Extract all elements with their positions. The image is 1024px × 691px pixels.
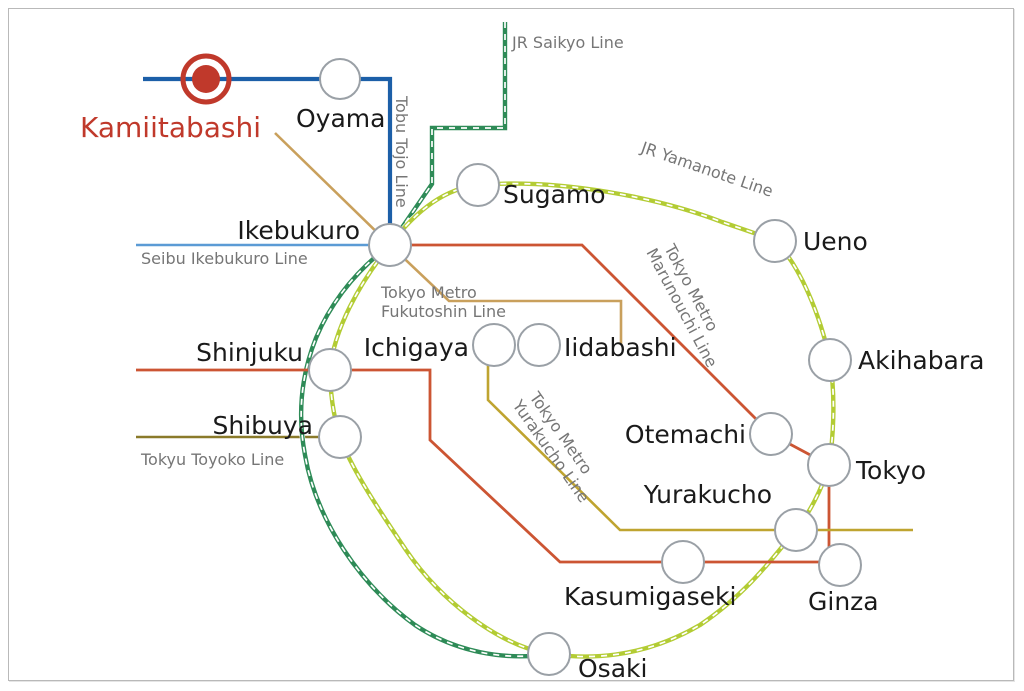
label-jr-yamanote: JR Yamanote Line [638, 137, 776, 200]
station-label-sugamo: Sugamo [503, 180, 606, 209]
station-label-oyama: Oyama [296, 104, 385, 133]
station-label-ikebukuro: Ikebukuro [237, 216, 360, 245]
station-label-iidabashi: Iidabashi [564, 333, 677, 362]
station-circle-sugamo[interactable] [457, 164, 499, 206]
station-circle-akihabara[interactable] [809, 339, 851, 381]
station-label-ichigaya: Ichigaya [364, 333, 469, 362]
label-fukutoshin-1: Tokyo Metro [380, 283, 477, 302]
station-circle-osaki[interactable] [528, 633, 570, 675]
label-tokyu-toyoko: Tokyu Toyoko Line [140, 450, 284, 469]
label-tobu-tojo: Tobu Tojo Line [392, 95, 411, 208]
station-label-ginza: Ginza [808, 587, 879, 616]
station-label-akihabara: Akihabara [858, 346, 984, 375]
station-circle-kasumigaseki[interactable] [662, 541, 704, 583]
station-circle-oyama[interactable] [320, 59, 360, 99]
label-fukutoshin-2: Fukutoshin Line [381, 302, 506, 321]
station-label-otemachi: Otemachi [625, 420, 746, 449]
station-labels: KamiitabashiOyamaSugamoIkebukuroUenoAkih… [80, 104, 984, 683]
station-circle-otemachi[interactable] [750, 413, 792, 455]
rail-map-svg: KamiitabashiOyamaSugamoIkebukuroUenoAkih… [0, 0, 1024, 691]
station-label-yurakucho: Yurakucho [643, 480, 772, 509]
station-label-shibuya: Shibuya [213, 411, 314, 440]
station-circle-tokyo[interactable] [808, 444, 850, 486]
station-circle-iidabashi[interactable] [518, 324, 560, 366]
station-circle-shinjuku[interactable] [309, 349, 351, 391]
station-circle-ginza[interactable] [819, 544, 861, 586]
station-circle-ichigaya[interactable] [473, 324, 515, 366]
station-label-ueno: Ueno [803, 227, 868, 256]
station-label-kamiitabashi: Kamiitabashi [80, 111, 261, 144]
station-circle-ikebukuro[interactable] [369, 224, 411, 266]
station-label-kasumigaseki: Kasumigaseki [564, 582, 736, 611]
station-label-tokyo: Tokyo [855, 456, 926, 485]
station-label-shinjuku: Shinjuku [196, 338, 303, 367]
station-circle-yurakucho[interactable] [775, 509, 817, 551]
station-circle-shibuya[interactable] [319, 416, 361, 458]
station-circle-ueno[interactable] [754, 220, 796, 262]
map-frame: KamiitabashiOyamaSugamoIkebukuroUenoAkih… [0, 0, 1024, 691]
station-label-osaki: Osaki [578, 654, 647, 683]
label-jr-saikyo: JR Saikyo Line [511, 33, 624, 52]
label-seibu: Seibu Ikebukuro Line [141, 249, 308, 268]
line-marunouchi [136, 245, 840, 565]
